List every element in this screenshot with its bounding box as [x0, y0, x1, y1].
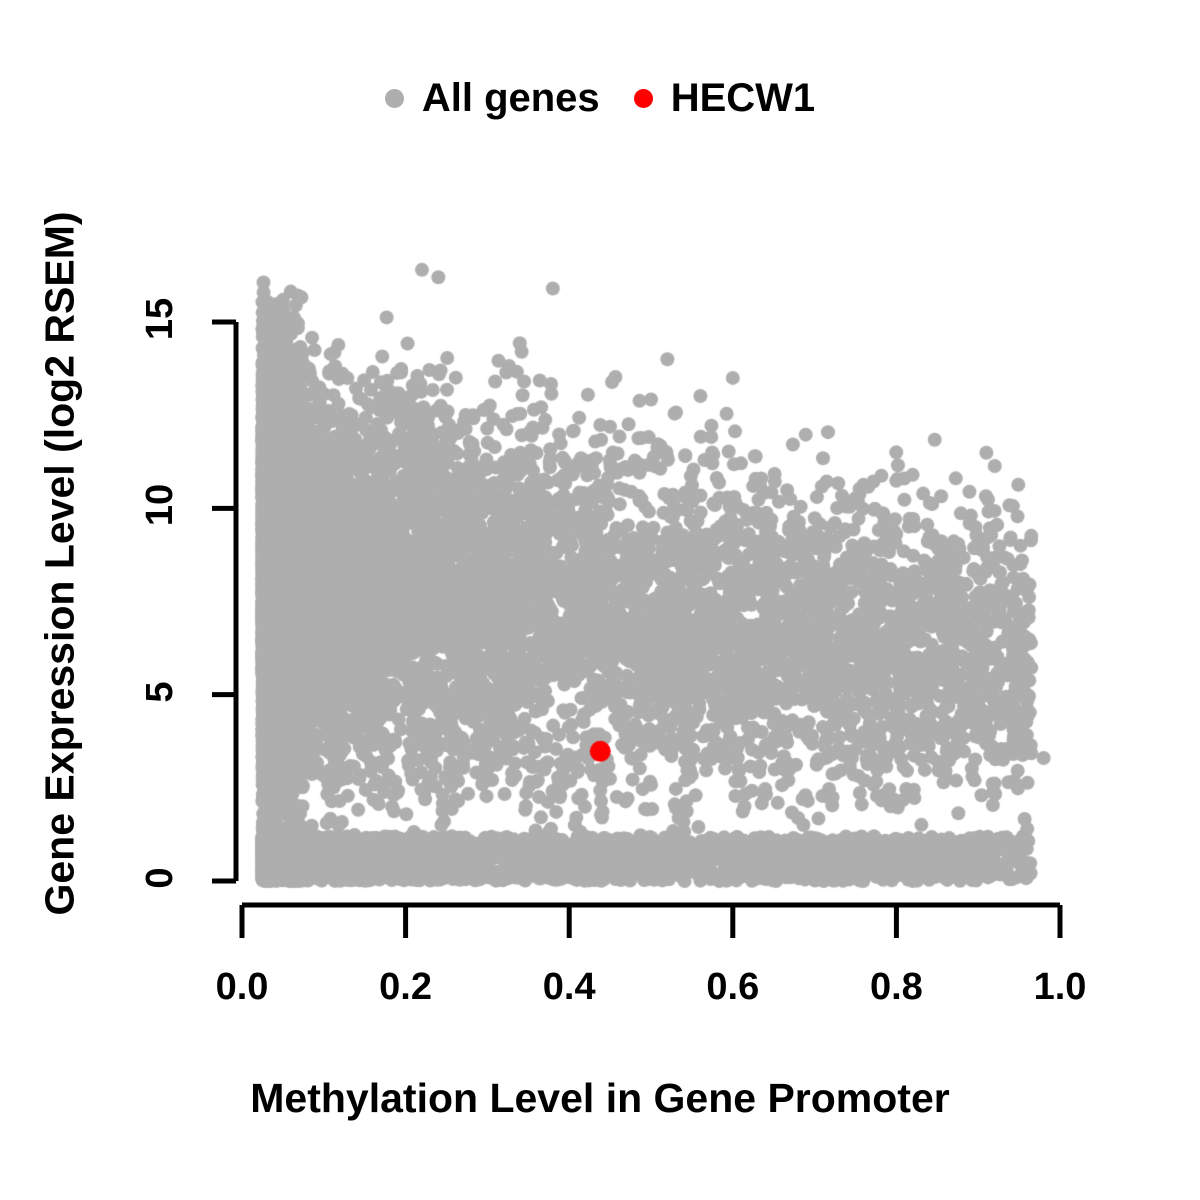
scatter-points-canvas: [0, 0, 1200, 1200]
x-tick-label: 0.6: [653, 968, 813, 1006]
y-tick-label: 5: [141, 632, 179, 752]
x-tick-label: 1.0: [980, 968, 1140, 1006]
y-axis-title: Gene Expression Level (log2 RSEM): [37, 154, 84, 974]
plot-area: [0, 0, 1200, 1200]
y-tick-label: 0: [141, 818, 179, 938]
x-tick-label: 0.0: [162, 968, 322, 1006]
y-tick-label: 15: [141, 259, 179, 379]
scatter-plot-figure: All genes HECW1 051015 0.00.20.40.60.81.…: [0, 0, 1200, 1200]
y-tick-label: 10: [141, 445, 179, 565]
x-tick-label: 0.4: [489, 968, 649, 1006]
x-tick-label: 0.8: [816, 968, 976, 1006]
x-axis-title: Methylation Level in Gene Promoter: [0, 1075, 1200, 1122]
x-tick-label: 0.2: [326, 968, 486, 1006]
